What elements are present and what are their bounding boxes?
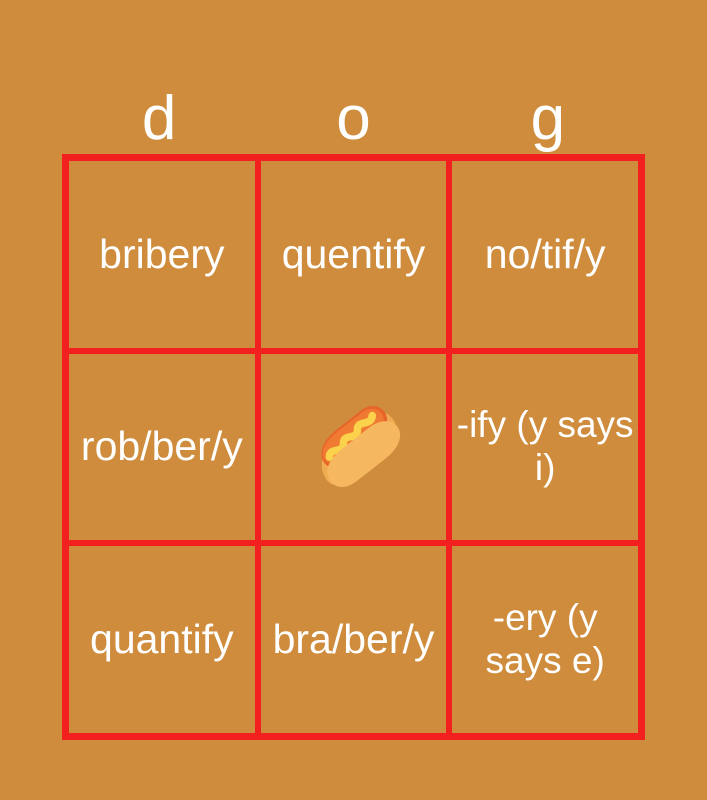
bingo-header-row: d o g [62, 62, 645, 154]
bingo-cell-free-space[interactable] [261, 354, 447, 541]
bingo-cell-label: bribery [73, 231, 251, 279]
bingo-cell-label: bra/ber/y [265, 616, 443, 664]
bingo-cell-r1c2[interactable]: quentify [261, 161, 447, 348]
bingo-cell-r1c3[interactable]: no/tif/y [452, 161, 638, 348]
bingo-cell-label: -ify (y says i) [456, 404, 634, 490]
bingo-cell-r2c3[interactable]: -ify (y says i) [452, 354, 638, 541]
bingo-cell-label: -ery (y says e) [456, 597, 634, 683]
bingo-cell-label: quantify [73, 616, 251, 664]
header-letter-2: o [256, 88, 450, 154]
bingo-cell-label: no/tif/y [456, 231, 634, 279]
bingo-cell-r3c3[interactable]: -ery (y says e) [452, 546, 638, 733]
bingo-cell-r2c1[interactable]: rob/ber/y [69, 354, 255, 541]
bingo-cell-label: quentify [265, 231, 443, 279]
bingo-cell-label: rob/ber/y [73, 423, 251, 471]
bingo-cell-r3c1[interactable]: quantify [69, 546, 255, 733]
bingo-grid: bribery quentify no/tif/y rob/ber/y [62, 154, 645, 740]
bingo-cell-r3c2[interactable]: bra/ber/y [261, 546, 447, 733]
hotdog-icon [278, 371, 430, 523]
bingo-cell-r1c1[interactable]: bribery [69, 161, 255, 348]
header-letter-1: d [62, 88, 256, 154]
header-letter-3: g [451, 88, 645, 154]
bingo-card: d o g bribery quentify no/tif/y rob/ber/… [0, 0, 707, 800]
